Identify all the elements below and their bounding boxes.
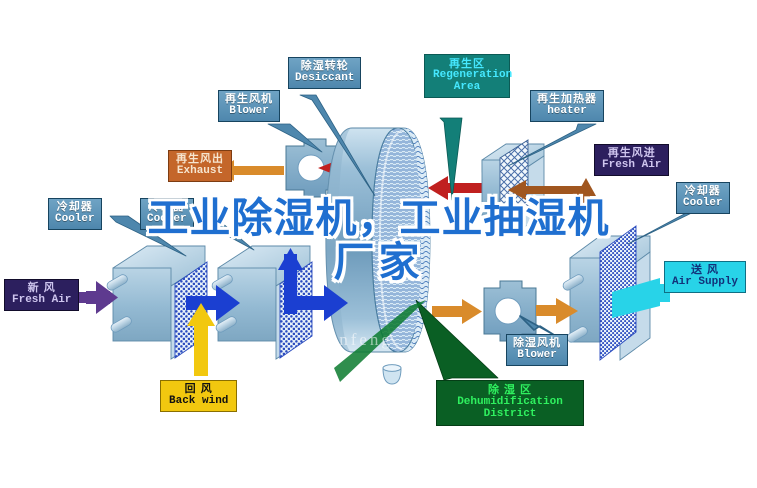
label-regen-fresh-air-cn: 再生风进 (602, 147, 661, 159)
label-cooler-left-2-cn: 冷却器 (147, 201, 187, 213)
label-cooler-left-1-cn: 冷却器 (55, 201, 95, 213)
label-cooler-left-1-en: Cooler (55, 213, 95, 225)
label-back-wind-cn: 回 风 (169, 383, 228, 395)
label-regen-exhaust-en: Exhaust (176, 165, 224, 177)
label-fresh-air[interactable]: 新 风 Fresh Air (4, 279, 79, 311)
dry-air-arrow (432, 299, 482, 324)
label-air-supply[interactable]: 送 风 Air Supply (664, 261, 746, 293)
schematic-canvas (0, 0, 757, 488)
label-back-wind-en: Back wind (169, 395, 228, 407)
label-regen-area-en: Regeneration Area (433, 70, 501, 93)
label-desiccant[interactable]: 除湿转轮 Desiccant (288, 57, 361, 89)
label-regen-blower-en: Blower (225, 105, 273, 117)
label-dehum-blower[interactable]: 除湿风机 Blower (506, 334, 568, 366)
label-regen-fresh-air-en: Fresh Air (602, 159, 661, 171)
label-regen-blower-cn: 再生风机 (225, 93, 273, 105)
label-cooler-right-en: Cooler (683, 197, 723, 209)
label-back-wind[interactable]: 回 风 Back wind (160, 380, 237, 412)
label-regen-exhaust[interactable]: 再生风出 Exhaust (168, 150, 232, 182)
dehumidifier-schematic: 除湿转轮 Desiccant 再生风机 Blower 再生区 Regenerat… (0, 0, 757, 488)
dehum-blower-fan (484, 281, 578, 341)
label-dehum-blower-cn: 除湿风机 (513, 337, 561, 349)
label-dehum-blower-en: Blower (513, 349, 561, 361)
label-cooler-left-2[interactable]: 冷却器 Cooler (140, 198, 194, 230)
label-cooler-right-cn: 冷却器 (683, 185, 723, 197)
label-dehum-district[interactable]: 除 湿 区 Dehumidification District (436, 380, 584, 426)
label-fresh-air-en: Fresh Air (12, 294, 71, 306)
label-air-supply-cn: 送 风 (672, 264, 738, 276)
label-desiccant-cn: 除湿转轮 (295, 60, 354, 72)
regen-hot-air-arrow (428, 176, 490, 200)
label-regen-heater[interactable]: 再生加热器 heater (530, 90, 604, 122)
label-regen-blower[interactable]: 再生风机 Blower (218, 90, 280, 122)
label-fresh-air-cn: 新 风 (12, 282, 71, 294)
label-regen-heater-cn: 再生加热器 (537, 93, 597, 105)
label-regen-heater-en: heater (537, 105, 597, 117)
label-regen-fresh-air[interactable]: 再生风进 Fresh Air (594, 144, 669, 176)
label-air-supply-en: Air Supply (672, 276, 738, 288)
label-dehum-district-en: Dehumidification District (446, 396, 574, 420)
label-cooler-left-1[interactable]: 冷却器 Cooler (48, 198, 102, 230)
label-regen-area[interactable]: 再生区 Regeneration Area (424, 54, 510, 98)
label-desiccant-en: Desiccant (295, 72, 354, 84)
label-cooler-left-2-en: Cooler (147, 213, 187, 225)
label-regen-exhaust-cn: 再生风出 (176, 153, 224, 165)
label-dehum-district-cn: 除 湿 区 (446, 384, 574, 396)
label-cooler-right[interactable]: 冷却器 Cooler (676, 182, 730, 214)
